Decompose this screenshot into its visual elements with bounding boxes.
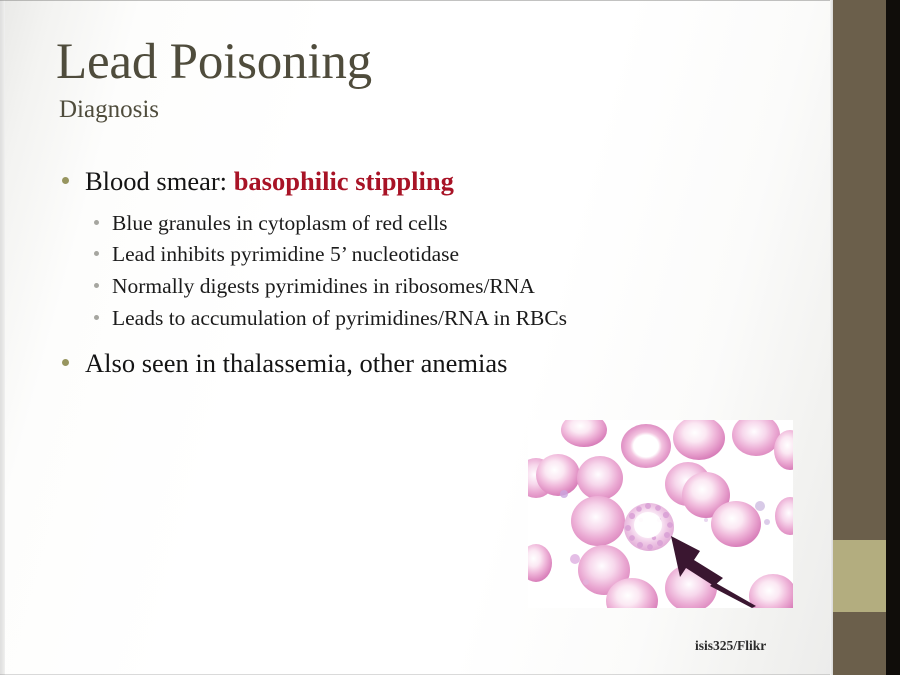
page-title: Lead Poisoning (56, 36, 756, 88)
spacer (62, 335, 782, 345)
bullet-text: Lead inhibits pyrimidine 5’ nucleotidase (112, 239, 459, 271)
bullet-item-sub: Leads to accumulation of pyrimidines/RNA… (94, 303, 782, 335)
slide-left-edge-strip (0, 0, 5, 675)
spacer (62, 200, 782, 208)
bullet-dot-icon (62, 177, 69, 184)
bullet-text: Blood smear: basophilic stippling (85, 163, 454, 200)
side-band-dark-edge (886, 0, 900, 675)
bullet-dot-icon (62, 359, 69, 366)
blood-smear-illustration (528, 420, 793, 608)
bullet-item-sub: Lead inhibits pyrimidine 5’ nucleotidase (94, 239, 782, 271)
bullet-text: Also seen in thalassemia, other anemias (85, 345, 507, 382)
bullet-dot-icon (94, 220, 99, 225)
slide-body: Blood smear: basophilic stippling Blue g… (62, 163, 782, 381)
slide-top-hairline (0, 0, 833, 1)
bullet-dot-icon (94, 315, 99, 320)
title-block: Lead Poisoning Diagnosis (56, 36, 756, 124)
bullet-item-primary: Blood smear: basophilic stippling (62, 163, 782, 200)
blood-smear-micrograph (528, 420, 793, 608)
page-subtitle: Diagnosis (59, 96, 756, 124)
presentation-slide: Lead Poisoning Diagnosis Blood smear: ba… (0, 0, 900, 675)
bullet-text: Normally digests pyrimidines in ribosome… (112, 271, 535, 303)
bullet-dot-icon (94, 251, 99, 256)
bullet-item-primary: Also seen in thalassemia, other anemias (62, 345, 782, 382)
bullet-text-emphasis: basophilic stippling (234, 166, 454, 196)
side-band-accent-block (833, 540, 886, 612)
bullet-text: Leads to accumulation of pyrimidines/RNA… (112, 303, 567, 335)
bullet-text-prefix: Blood smear: (85, 166, 234, 196)
bullet-text: Blue granules in cytoplasm of red cells (112, 208, 448, 240)
bullet-item-sub: Normally digests pyrimidines in ribosome… (94, 271, 782, 303)
stippled-cell (624, 503, 674, 551)
image-credit: isis325/Flikr (695, 638, 766, 654)
bullet-item-sub: Blue granules in cytoplasm of red cells (94, 208, 782, 240)
bullet-dot-icon (94, 283, 99, 288)
